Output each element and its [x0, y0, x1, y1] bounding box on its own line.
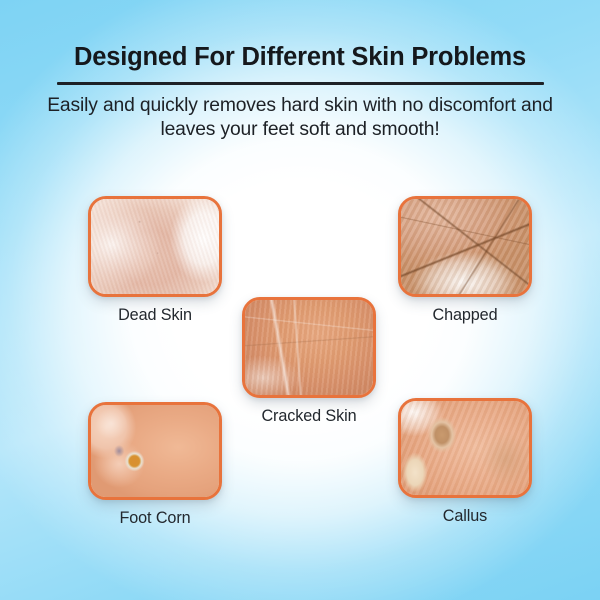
foot-corn-photo: [91, 405, 219, 497]
tile-chapped-frame: [398, 196, 532, 297]
tile-dead-skin[interactable]: Dead Skin: [88, 196, 222, 325]
tile-dead-skin-frame: [88, 196, 222, 297]
chapped-heel-photo: [401, 199, 529, 294]
tile-callus-label: Callus: [398, 507, 532, 526]
dead-skin-photo: [91, 199, 219, 294]
callus-photo: [401, 401, 529, 495]
tile-callus-frame: [398, 398, 532, 498]
tile-callus[interactable]: Callus: [398, 398, 532, 526]
promo-banner: Designed For Different Skin Problems Eas…: [0, 0, 600, 600]
title-divider: [57, 82, 544, 85]
tile-chapped-label: Chapped: [398, 306, 532, 325]
tile-foot-corn[interactable]: Foot Corn: [88, 402, 222, 528]
tile-cracked-skin-frame: [242, 297, 376, 398]
tile-dead-skin-label: Dead Skin: [88, 306, 222, 325]
tile-foot-corn-frame: [88, 402, 222, 500]
page-title: Designed For Different Skin Problems: [0, 0, 600, 72]
tile-chapped[interactable]: Chapped: [398, 196, 532, 325]
page-subtitle: Easily and quickly removes hard skin wit…: [40, 94, 560, 144]
tile-foot-corn-label: Foot Corn: [88, 509, 222, 528]
tile-cracked-skin-label: Cracked Skin: [242, 407, 376, 426]
cracked-skin-photo: [245, 300, 373, 395]
tile-cracked-skin[interactable]: Cracked Skin: [242, 297, 376, 426]
header: Designed For Different Skin Problems Eas…: [0, 0, 600, 143]
